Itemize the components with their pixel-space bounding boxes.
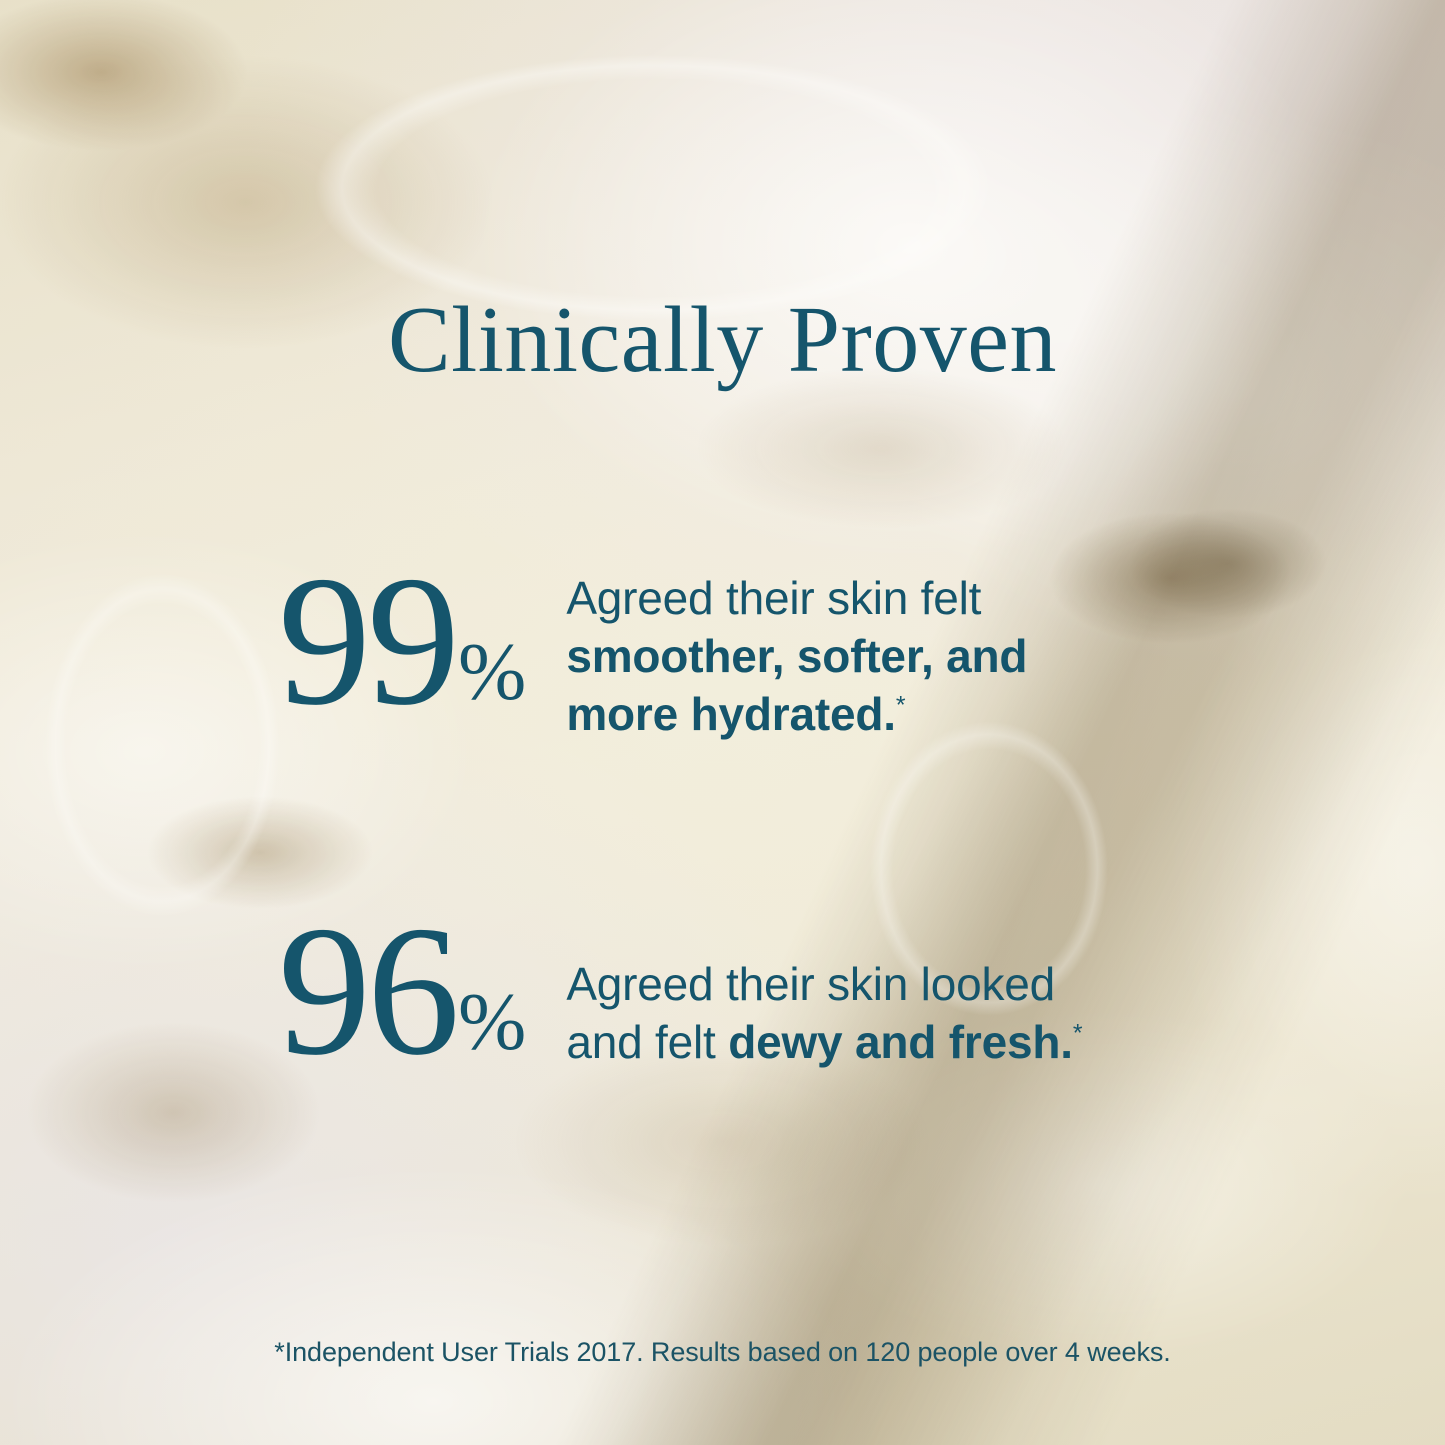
stat-copy-99-line2: smoother, softer, and: [566, 630, 1027, 682]
content-layer: Clinically Proven 99 % Agreed their skin…: [0, 0, 1445, 1445]
stat-block-96: 96 % Agreed their skin looked and felt d…: [278, 898, 1083, 1084]
stat-figure-96: 96 %: [278, 898, 526, 1084]
stat-percent-sign-99: %: [458, 631, 526, 713]
stat-number-99: 99: [278, 548, 456, 734]
stat-figure-99: 99 %: [278, 548, 526, 734]
stat-copy-99-line3: more hydrated.: [566, 688, 896, 740]
stat-copy-99: Agreed their skin felt smoother, softer,…: [566, 570, 1027, 744]
stat-copy-99-line1: Agreed their skin felt: [566, 572, 981, 624]
stat-copy-96-line2-plain: and felt: [566, 1016, 728, 1068]
page-title: Clinically Proven: [0, 293, 1445, 387]
stat-number-96: 96: [278, 898, 456, 1084]
stat-copy-96-line2-bold: dewy and fresh.: [728, 1016, 1073, 1068]
footnote-marker-96: *: [1073, 1021, 1083, 1048]
stat-block-99: 99 % Agreed their skin felt smoother, so…: [278, 548, 1027, 744]
stat-copy-96: Agreed their skin looked and felt dewy a…: [566, 956, 1082, 1072]
footnote-marker-99: *: [896, 693, 906, 720]
stat-copy-96-line1: Agreed their skin looked: [566, 958, 1055, 1010]
legal-footnote: *Independent User Trials 2017. Results b…: [0, 1337, 1445, 1368]
stat-percent-sign-96: %: [458, 981, 526, 1063]
promo-canvas: Clinically Proven 99 % Agreed their skin…: [0, 0, 1445, 1445]
